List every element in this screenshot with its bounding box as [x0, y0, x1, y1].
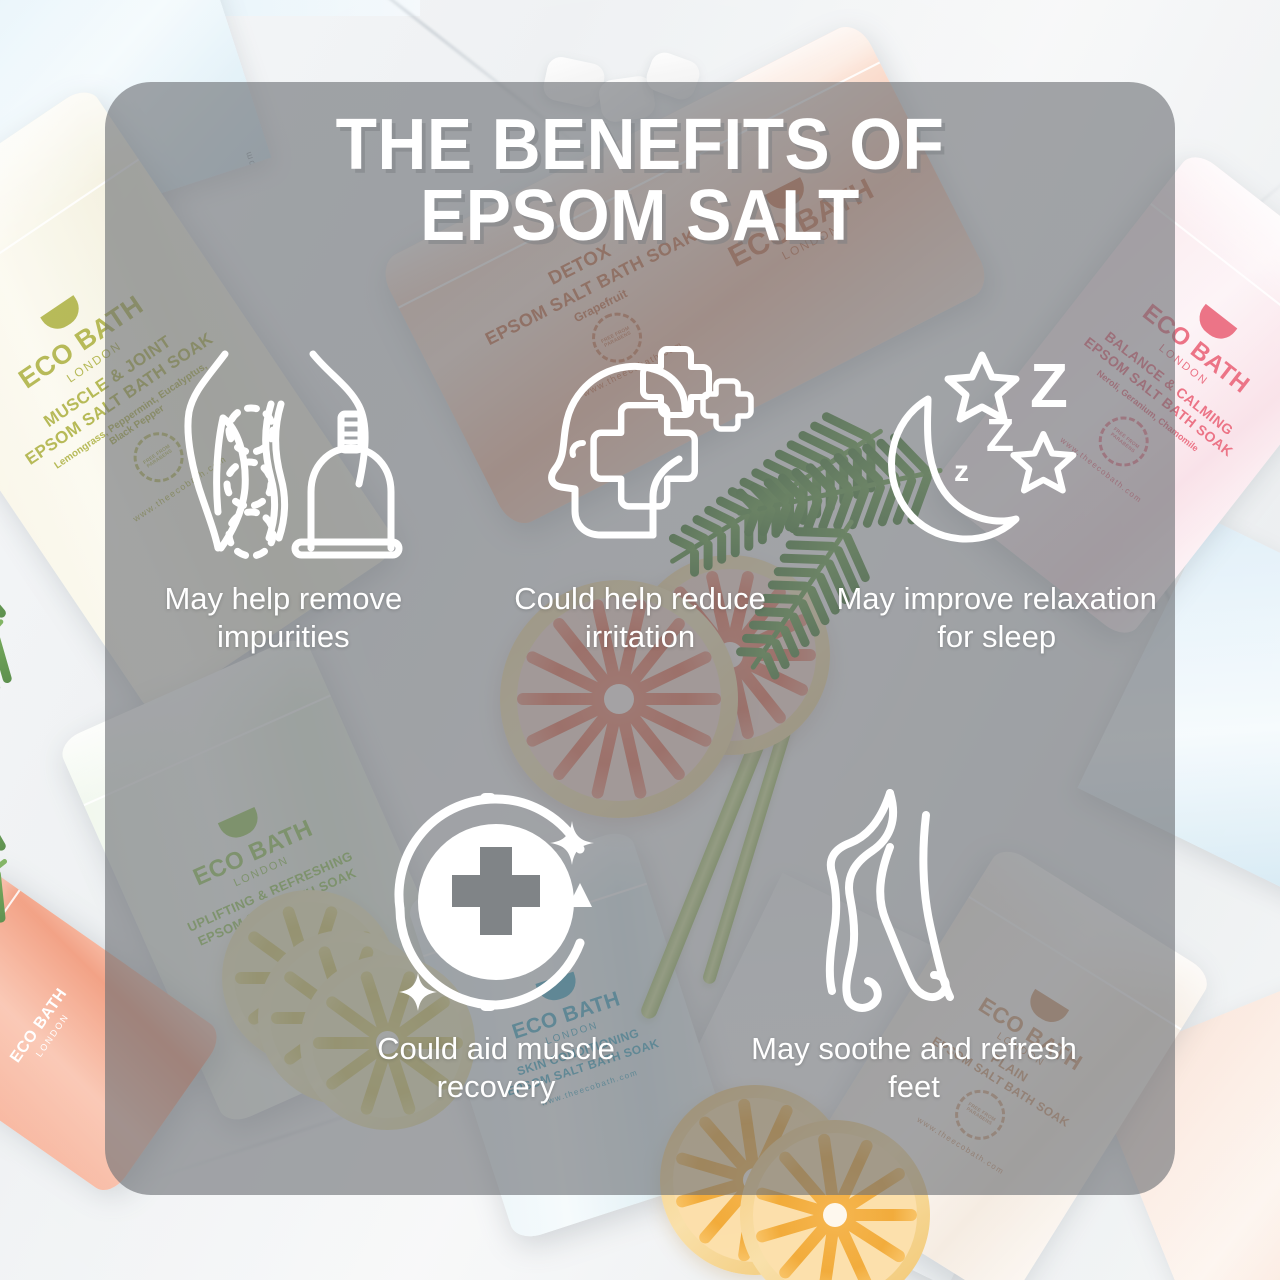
legs-feet-icon: [794, 782, 1034, 1022]
benefits-row-top: May help remove impurities: [105, 332, 1175, 762]
fern-stem: [0, 618, 4, 748]
benefits-row-bottom: Could aid muscle recovery May soothe and…: [105, 782, 1175, 1182]
benefit-relaxation-for-sleep: Z Z z May improve relaxation for sleep: [818, 332, 1175, 762]
cupping-therapy-icon: [163, 332, 403, 572]
benefit-caption: Could help reduce irritation: [475, 580, 805, 656]
zzz-large: Z: [1030, 352, 1068, 421]
head-with-crosses-icon: [525, 332, 755, 572]
zzz-small: z: [954, 455, 969, 488]
fern-leaflet: [0, 572, 8, 619]
title-line-2: EPSOM SALT: [137, 181, 1143, 252]
page-title: THE BENEFITS OF EPSOM SALT: [137, 110, 1143, 251]
infographic-content: THE BENEFITS OF EPSOM SALT: [105, 82, 1175, 1195]
benefit-caption: May improve relaxation for sleep: [832, 580, 1162, 656]
benefit-caption: May help remove impurities: [118, 580, 448, 656]
moon-stars-sleep-icon: Z Z z: [882, 332, 1112, 572]
benefit-reduce-irritation: Could help reduce irritation: [462, 332, 819, 762]
cross-recovery-circle-icon: [376, 782, 616, 1022]
zzz-medium: Z: [986, 409, 1014, 461]
title-line-1: THE BENEFITS OF: [137, 110, 1143, 181]
fern-leaflet: [0, 802, 8, 853]
epsom-salt-benefits-infographic: www.theecobath.com www.theecobath.com ww…: [0, 0, 1280, 1280]
benefit-soothe-feet: May soothe and refresh feet: [734, 782, 1094, 1182]
packet-website-text: www.theecobath.com: [1244, 878, 1280, 902]
fern-leaflet: [0, 631, 13, 684]
benefit-remove-impurities: May help remove impurities: [105, 332, 462, 762]
benefit-caption: May soothe and refresh feet: [749, 1030, 1079, 1106]
benefit-muscle-recovery: Could aid muscle recovery: [316, 782, 676, 1182]
benefit-caption: Could aid muscle recovery: [331, 1030, 661, 1106]
